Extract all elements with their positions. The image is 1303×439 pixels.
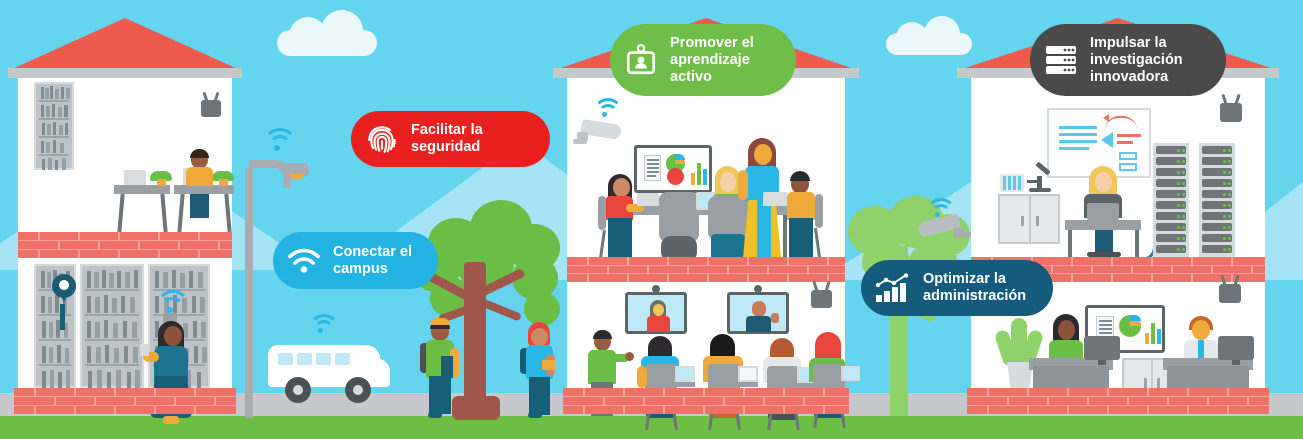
student-legs — [608, 218, 632, 258]
student-shoe — [528, 412, 542, 418]
laptop-1 — [124, 170, 146, 185]
server-rack-icon — [1044, 45, 1078, 75]
video-screen-1 — [625, 292, 687, 334]
desk — [669, 382, 695, 387]
student-torso — [787, 192, 815, 220]
tree-branch — [480, 298, 522, 321]
student-head — [613, 178, 630, 197]
bookshelf-lower-2 — [80, 264, 144, 388]
staff-head-2 — [1192, 320, 1210, 340]
bar-chart-icon — [691, 158, 709, 185]
brick-band-library-mid — [18, 232, 232, 258]
network-cable — [1119, 208, 1156, 261]
monitor-stand-2 — [1232, 360, 1240, 365]
brick-base-classrooms — [563, 388, 849, 414]
server-rack-1 — [1153, 143, 1189, 258]
callout-administration[interactable]: Optimizar la administración — [861, 260, 1053, 316]
campus-illustration: Facilitar la seguridad Promover el apren… — [0, 0, 1303, 439]
student-head — [720, 172, 736, 192]
student-legs — [789, 218, 813, 258]
campus-bus — [268, 345, 390, 395]
bus-hubcap — [353, 385, 363, 395]
plant-pot-1 — [157, 179, 166, 186]
laptop — [738, 366, 758, 382]
staff-head-1 — [1058, 320, 1075, 340]
location-pin-icon — [52, 274, 76, 304]
monitor-1 — [1084, 336, 1120, 360]
reader-head — [164, 326, 182, 346]
student-book — [542, 360, 555, 370]
laptop — [675, 366, 695, 382]
callout-research-label: Impulsar la investigación innovadora — [1090, 35, 1183, 86]
document-icon — [644, 155, 661, 181]
student-legs — [429, 376, 451, 414]
whiteboard-charts — [634, 145, 712, 193]
participant-body — [647, 316, 670, 332]
desk-panel-1 — [1033, 366, 1109, 388]
callout-connect-campus[interactable]: Conectar el campus — [273, 232, 438, 289]
brick-base-library — [14, 388, 236, 414]
chair-back-right — [815, 194, 823, 228]
reader-book — [140, 344, 149, 356]
bar-chart-icon — [1145, 318, 1163, 344]
monitor-2 — [1218, 336, 1254, 360]
pie-slice — [1130, 315, 1141, 321]
chair-back-center — [659, 192, 699, 242]
study-desk-2 — [174, 185, 234, 194]
video-screen-camera — [652, 285, 660, 293]
desk-leg — [1068, 230, 1072, 260]
researcher-head — [1095, 172, 1112, 192]
eave-library — [8, 68, 242, 78]
desk-panel-2 — [1167, 366, 1249, 388]
laptop-student-left — [637, 193, 659, 206]
pin-stem — [60, 304, 65, 330]
wifi-access-point-library-upper — [201, 100, 221, 117]
teacher-hand — [625, 352, 634, 361]
arrow-curve-icon — [1105, 116, 1137, 130]
callout-active-learning[interactable]: Promover el aprendizaje activo — [610, 24, 796, 96]
callout-security[interactable]: Facilitar la seguridad — [351, 111, 550, 167]
security-camera-classroom — [573, 118, 623, 150]
callout-security-label: Facilitar la seguridad — [411, 122, 483, 156]
student-legs — [529, 377, 550, 415]
participant-head — [653, 304, 664, 316]
microscope-icon — [1025, 166, 1055, 194]
video-screen-camera — [754, 285, 762, 293]
study-desk-1 — [114, 185, 170, 194]
wifi-icon-camera-classroom — [593, 98, 623, 120]
table-leg — [783, 215, 787, 257]
test-tubes — [1000, 174, 1024, 192]
video-screen-2 — [727, 292, 789, 334]
callout-active-learning-label: Promover el aprendizaje activo — [670, 35, 754, 86]
wifi-access-point-classrooms-lower — [811, 290, 832, 308]
student-head — [531, 328, 548, 346]
student-arm — [637, 366, 647, 388]
lab-cabinet — [998, 194, 1060, 244]
participant-hand — [771, 313, 779, 323]
researcher-legs — [1095, 230, 1113, 252]
security-camera-outdoor — [918, 218, 974, 250]
bookshelf-upper — [34, 82, 74, 170]
box-icon — [1119, 152, 1137, 160]
street-lamp-pole — [245, 168, 253, 418]
callout-administration-label: Optimizar la administración — [923, 271, 1026, 305]
bus-window — [278, 353, 293, 365]
teacher-head — [754, 144, 772, 165]
bus-window — [316, 353, 331, 365]
brick-base-research — [967, 388, 1269, 414]
teacher-dress-panel — [757, 200, 771, 258]
teacher-arm — [738, 170, 748, 200]
cloud-left — [277, 30, 377, 56]
participant-body — [746, 316, 771, 332]
roof-library — [10, 18, 240, 70]
callout-connect-campus-label: Conectar el campus — [333, 244, 412, 278]
student-cap — [430, 318, 450, 325]
student-hair — [710, 334, 735, 358]
wifi-access-point-research — [1220, 103, 1242, 122]
wifi-icon-bus — [309, 314, 337, 336]
student-legs — [190, 194, 209, 218]
tree-trunk — [464, 262, 486, 418]
brick-band-classrooms-mid — [567, 257, 845, 282]
student-walking-2 — [518, 322, 560, 418]
participant-head — [752, 301, 766, 317]
bus-hubcap — [293, 385, 303, 395]
laptop-right — [763, 192, 787, 206]
bus-window — [297, 353, 312, 365]
bus-window — [335, 353, 350, 365]
server-rack-2 — [1199, 143, 1235, 258]
student-hair — [648, 336, 672, 358]
plant-pot-2 — [219, 179, 228, 186]
wifi-icon-library-lower — [156, 290, 190, 314]
callout-research[interactable]: Impulsar la investigación innovadora — [1030, 24, 1226, 96]
bar-chart-trend-icon — [875, 273, 911, 303]
box-icon — [1119, 163, 1137, 171]
student-walking-1 — [420, 318, 460, 418]
researcher-laptop — [1087, 203, 1119, 220]
triangle-icon — [1101, 132, 1113, 148]
pie-slice — [675, 154, 685, 160]
pie-chart-icon-2 — [667, 168, 684, 185]
student-torso — [186, 167, 213, 186]
wifi-icon — [287, 247, 321, 275]
student-shoe — [428, 412, 442, 418]
monitor-stand-1 — [1098, 360, 1106, 365]
desk — [732, 382, 758, 387]
id-badge-icon — [624, 43, 658, 77]
wifi-access-point-admin — [1219, 284, 1241, 303]
building-library — [14, 18, 236, 420]
fingerprint-icon — [365, 122, 399, 156]
tree-foliage — [524, 292, 560, 326]
student-book — [441, 356, 453, 378]
wifi-icon-streetlamp — [263, 128, 297, 154]
reader-shoe — [163, 416, 179, 424]
chair-back — [598, 196, 606, 230]
